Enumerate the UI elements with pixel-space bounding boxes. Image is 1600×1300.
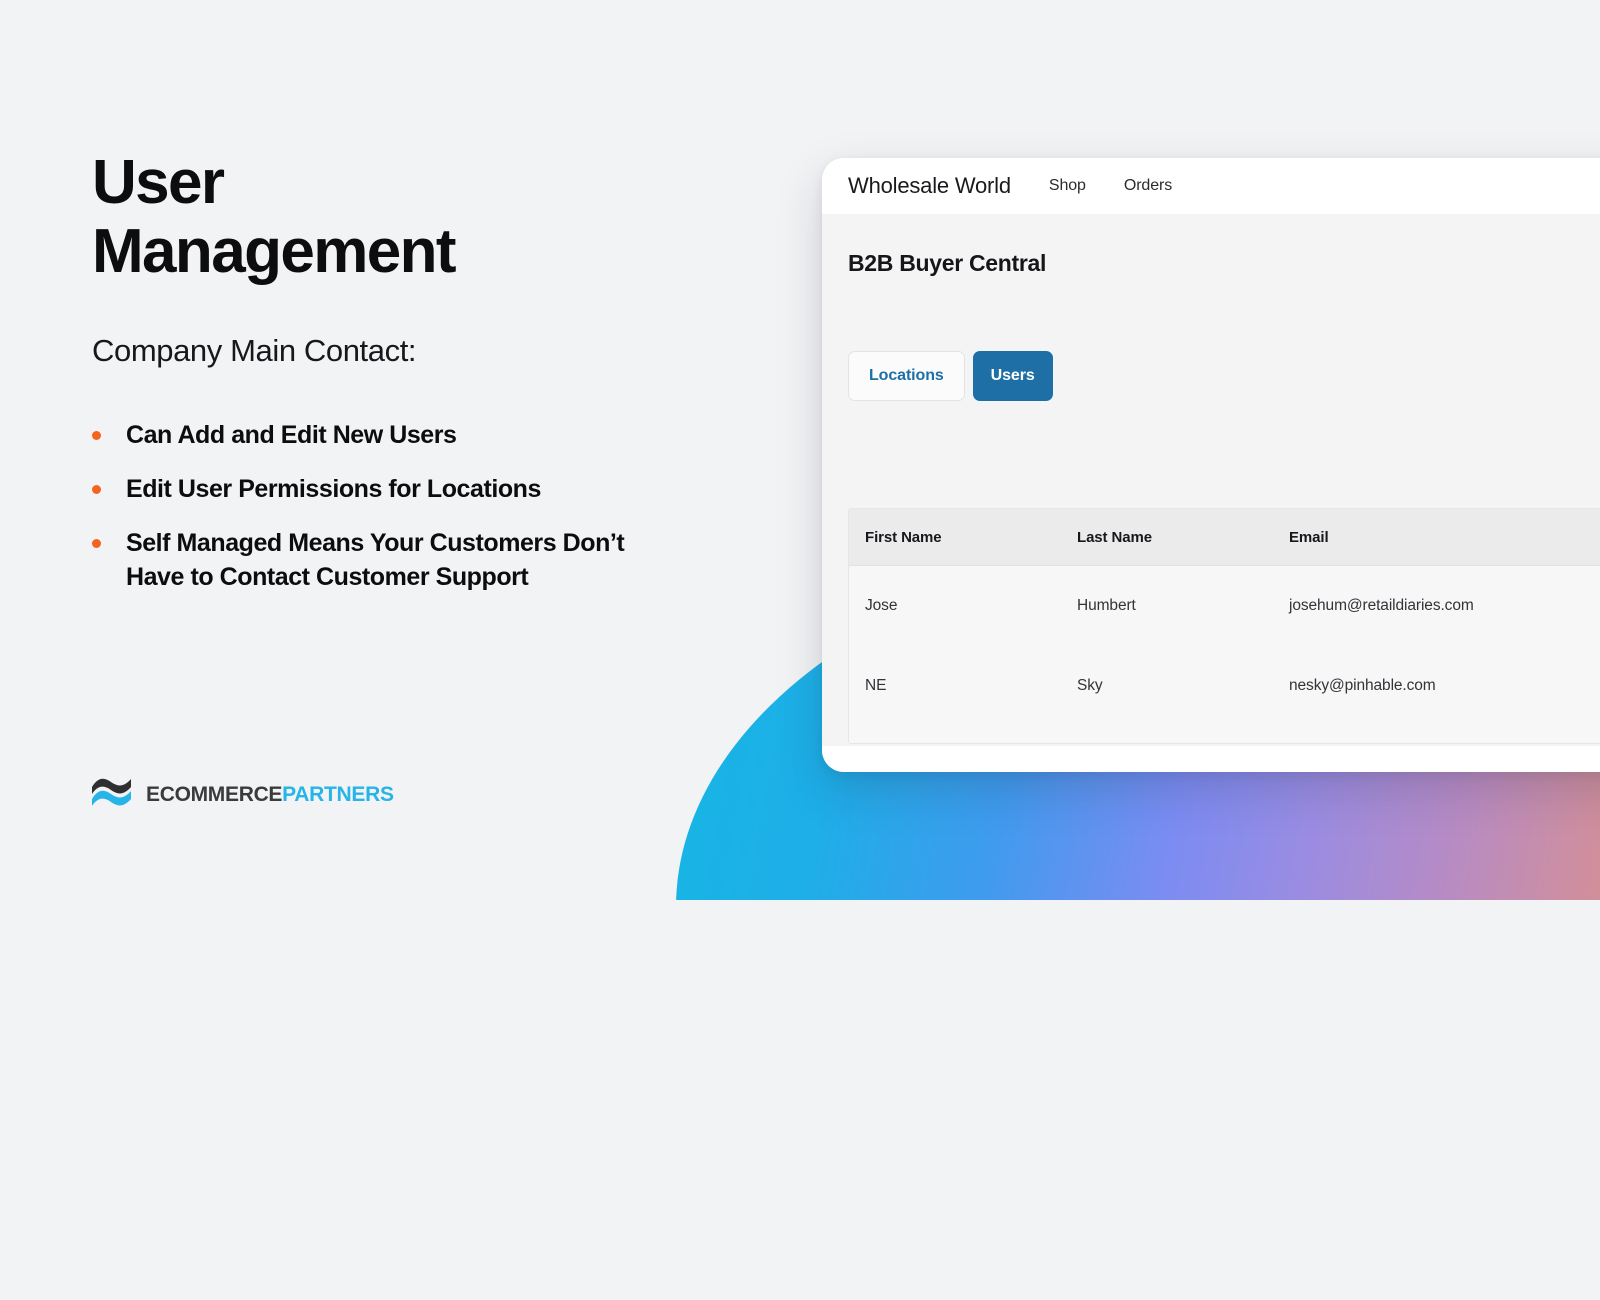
- cell-last-name: Humbert: [1077, 597, 1289, 615]
- list-item-label: Self Managed Means Your Customers Don’t …: [126, 529, 624, 591]
- bullet-dot-icon: [92, 431, 101, 440]
- logo-primary-text: ECommerce: [146, 775, 282, 808]
- table-row[interactable]: NE Sky nesky@pinhable.com: [849, 646, 1600, 726]
- column-header-last-name: Last Name: [1077, 529, 1289, 546]
- page-title: User Management: [92, 148, 652, 287]
- cell-first-name: NE: [849, 677, 1077, 695]
- nav-link-shop[interactable]: Shop: [1049, 177, 1086, 195]
- list-item-label: Edit User Permissions for Locations: [126, 475, 541, 503]
- cell-first-name: Jose: [849, 597, 1077, 615]
- app-top-navbar: Wholesale World Shop Orders: [822, 158, 1600, 214]
- benefit-list: Can Add and Edit New Users Edit User Per…: [92, 418, 682, 614]
- table-row[interactable]: Jon Colbart jcolb@freestylestore1.com: [849, 726, 1600, 744]
- wave-icon: [90, 775, 134, 809]
- page-title-line-1: User: [92, 148, 652, 217]
- users-table: First Name Last Name Email Jose Humbert …: [848, 508, 1600, 744]
- app-content-area: B2B Buyer Central Locations Users + Add …: [822, 214, 1600, 772]
- app-window-card: Wholesale World Shop Orders B2B Buyer Ce…: [822, 158, 1600, 772]
- bullet-dot-icon: [92, 539, 101, 548]
- blob-bottom-mask: [0, 900, 1600, 1300]
- list-item: Can Add and Edit New Users: [92, 418, 682, 452]
- cell-last-name: Sky: [1077, 677, 1289, 695]
- marketing-panel: User Management Company Main Contact: Ca…: [0, 0, 720, 900]
- column-header-email: Email: [1289, 529, 1600, 546]
- table-row[interactable]: Jose Humbert josehum@retaildiaries.com: [849, 566, 1600, 646]
- store-name[interactable]: Wholesale World: [848, 173, 1011, 199]
- bullet-dot-icon: [92, 485, 101, 494]
- section-title: B2B Buyer Central: [848, 250, 1046, 277]
- tab-locations[interactable]: Locations: [848, 351, 965, 401]
- logo-wordmark: ECommercePartners: [146, 777, 394, 807]
- brand-logo: ECommercePartners: [90, 775, 394, 809]
- tab-group: Locations Users: [848, 351, 1053, 401]
- cell-email: nesky@pinhable.com: [1289, 677, 1600, 695]
- list-item-label: Can Add and Edit New Users: [126, 421, 457, 449]
- subtitle: Company Main Contact:: [92, 333, 416, 369]
- list-item: Edit User Permissions for Locations: [92, 472, 682, 506]
- table-header-row: First Name Last Name Email: [849, 509, 1600, 566]
- nav-link-orders[interactable]: Orders: [1124, 177, 1172, 195]
- column-header-first-name: First Name: [849, 529, 1077, 546]
- tab-users[interactable]: Users: [973, 351, 1053, 401]
- cell-email: josehum@retaildiaries.com: [1289, 597, 1600, 615]
- page-title-line-2: Management: [92, 217, 652, 286]
- card-bottom-strip: [822, 746, 1600, 772]
- list-item: Self Managed Means Your Customers Don’t …: [92, 526, 682, 594]
- logo-accent-text: Partners: [282, 775, 394, 808]
